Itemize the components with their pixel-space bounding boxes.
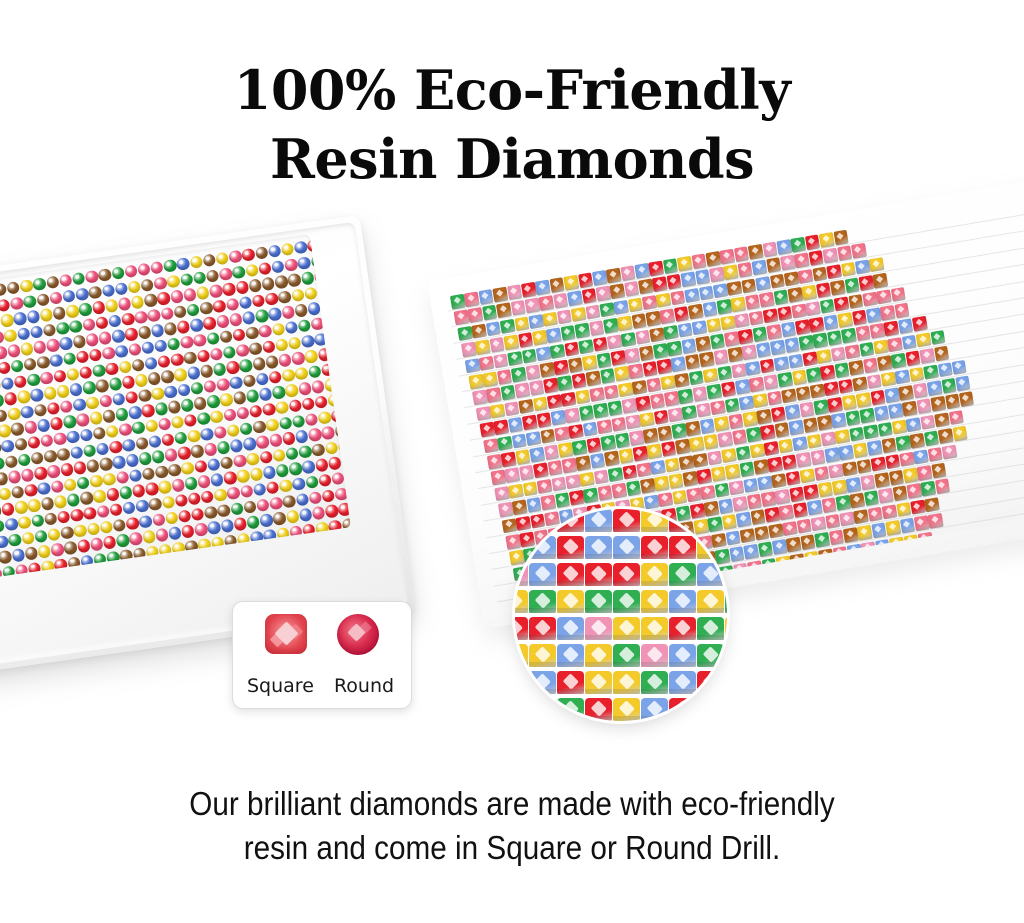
round-drill-bead [33,403,47,417]
round-gem-icon [337,614,379,655]
round-drill-bead [6,281,20,295]
round-drill-bead [265,292,279,306]
square-drill-bead [526,431,542,447]
round-drill-bead [230,439,244,453]
square-drill-bead [653,409,669,425]
square-drill-bead [747,494,763,510]
round-drill-bead [219,267,233,281]
square-drill-bead [927,380,943,396]
square-drill-bead [764,507,780,523]
round-drill-bead [278,416,292,430]
square-drill-bead [912,316,928,332]
round-drill-bead [165,511,179,525]
square-drill-bead [891,353,907,369]
square-drill-bead [703,368,719,384]
round-drill-bead [89,474,103,488]
round-drill-bead [145,482,159,496]
round-drill-bead [318,474,332,488]
round-drill-bead [49,354,63,368]
square-drill-bead [749,310,765,326]
round-drill-bead [89,411,103,425]
closeup-square-drill [697,671,724,696]
round-drill-bead [36,293,50,307]
closeup-square-drill [529,509,556,534]
round-drill-bead [268,307,282,321]
round-drill-bead [151,387,165,401]
round-drill-bead [249,342,263,356]
square-drill-bead [486,387,502,403]
round-drill-bead [213,362,227,376]
round-drill-bead [27,373,41,387]
round-drill-bead [308,365,322,379]
square-drill-bead [824,381,840,397]
round-drill-bead [229,313,243,327]
round-drill-bead [193,271,207,285]
round-drill-bead [96,505,110,519]
round-drill-bead [17,453,31,467]
round-drill-bead [200,490,214,504]
square-drill-bead [808,250,824,266]
square-drill-bead [650,393,666,409]
round-drill-bead [233,517,247,531]
round-drill-bead [56,447,70,461]
closeup-square-drill [557,590,584,615]
round-drill-bead [102,409,116,423]
round-drill-bead [147,309,161,323]
round-drill-bead [298,382,312,396]
square-drill-bead [589,320,605,336]
round-drill-bead [278,290,292,304]
closeup-square-drill [585,671,612,696]
round-drill-bead [24,546,38,560]
round-drill-bead [258,261,272,275]
round-drill-bead [0,472,9,486]
square-drill-bead [749,377,765,393]
square-drill-bead [952,426,968,442]
round-drill-bead [37,419,51,433]
round-drill-bead [236,406,250,420]
round-drill-bead [80,491,94,505]
square-drill-bead [563,275,579,291]
round-drill-bead [214,488,228,502]
round-drill-bead [47,464,61,478]
round-drill-bead [145,419,159,433]
square-drill-bead [839,511,855,527]
round-drill-bead [202,254,216,268]
round-drill-bead [256,435,270,449]
square-drill-bead [682,405,698,421]
square-drill-bead [759,292,775,308]
square-drill-bead [496,303,512,319]
square-drill-bead [610,284,626,300]
square-drill-bead [461,342,477,358]
round-drill-bead [127,280,141,294]
square-drill-bead [853,443,869,459]
square-drill-bead [657,425,673,441]
square-drill-bead [681,338,697,354]
round-drill-bead [271,323,285,337]
round-drill-bead [122,501,136,515]
round-drill-bead [37,482,51,496]
round-drill-bead [273,511,287,525]
round-drill-bead [0,361,11,375]
square-drill-bead [699,352,715,368]
round-drill-bead [187,366,201,380]
closeup-square-drill [515,563,528,588]
square-drill-bead [803,484,819,500]
round-drill-bead [53,432,67,446]
square-drill-bead [763,308,779,324]
square-drill-bead [652,277,668,293]
square-drill-bead [910,499,926,515]
square-drill-bead [857,525,873,541]
round-drill-bead [157,291,171,305]
square-drill-bead [508,417,524,433]
closeup-square-drill [529,617,556,642]
square-drill-bead [894,303,910,319]
square-drill-bead [610,350,626,366]
square-drill-bead [850,493,866,509]
square-drill-bead [870,390,886,406]
square-drill-bead [550,410,566,426]
square-drill-bead [549,277,565,293]
closeup-square-drill [725,509,727,534]
round-drill-bead [26,310,40,324]
square-drill-bead [468,307,484,323]
round-drill-bead [13,312,27,326]
round-drill-bead [135,436,149,450]
round-drill-bead [102,472,116,486]
round-drill-bead [153,276,167,290]
square-drill-bead [771,473,787,489]
round-drill-bead [69,320,83,334]
round-drill-bead [119,486,133,500]
square-drill-bead [650,460,666,476]
round-drill-bead [63,478,77,492]
closeup-square-drill [515,536,528,561]
round-drill-bead [144,356,158,370]
square-drill-bead [487,454,503,470]
round-drill-bead [281,305,295,319]
square-drill-bead [505,468,521,484]
square-drill-bead [919,348,935,364]
square-drill-bead [547,394,563,410]
square-drill-bead [692,320,708,336]
round-drill-bead [14,438,28,452]
square-drill-bead [565,474,581,490]
square-drill-bead [692,386,708,402]
square-drill-bead [797,518,813,534]
round-drill-bead [72,335,86,349]
round-drill-bead [163,259,177,273]
round-drill-bead [17,327,31,341]
square-drill-bead [831,413,847,429]
round-drill-bead [295,430,309,444]
round-drill-bead [0,409,8,423]
square-drill-bead [575,323,591,339]
square-drill-bead [778,438,794,454]
square-drill-bead [766,258,782,274]
square-drill-bead [678,322,694,338]
square-drill-bead [519,465,535,481]
closeup-square-drill [515,590,528,615]
square-drill-bead [851,243,867,259]
square-drill-bead [802,351,818,367]
closeup-square-drill [529,590,556,615]
round-drill-bead [85,333,99,347]
round-drill-bead [85,270,99,284]
closeup-square-drill [697,536,724,561]
round-drill-bead [142,530,156,544]
square-drill-bead [486,321,502,337]
square-drill-bead [863,424,879,440]
square-drill-bead [739,395,755,411]
round-drill-bead [150,324,164,338]
square-drill-bead [827,397,843,413]
square-drill-bead [866,307,882,323]
round-drill-bead [52,306,66,320]
legend-icons [233,614,411,655]
round-drill-bead [243,437,257,451]
square-drill-bead [497,369,513,385]
round-drill-bead [212,299,226,313]
round-drill-bead [47,527,61,541]
square-drill-bead [639,412,655,428]
square-drill-bead [618,382,634,398]
round-drill-bead [56,384,70,398]
round-drill-bead [148,497,162,511]
round-drill-bead [275,464,289,478]
square-drill-bead [647,444,663,460]
round-drill-bead [46,276,60,290]
round-drill-bead [207,521,221,535]
square-drill-bead [682,471,698,487]
round-drill-bead [154,339,168,353]
round-drill-bead [197,412,211,426]
square-drill-bead [800,468,816,484]
round-drill-bead [33,340,47,354]
round-drill-bead [30,388,44,402]
round-drill-bead [199,301,213,315]
square-drill-bead [475,339,491,355]
round-drill-bead [245,326,259,340]
round-drill-bead [150,261,164,275]
closeup-square-drill [641,671,668,696]
square-drill-bead [611,483,627,499]
round-drill-bead [148,434,162,448]
round-drill-bead [151,450,165,464]
round-drill-bead [92,427,106,441]
closeup-square-drill [529,644,556,669]
closeup-square-drill [725,671,727,696]
square-drill-bead [945,394,961,410]
square-drill-bead [757,475,773,491]
square-drill-bead [625,414,641,430]
square-drill-bead [779,505,795,521]
round-drill-bead [14,500,28,514]
square-drill-bead [621,332,637,348]
round-drill-bead [108,314,122,328]
square-drill-bead [649,261,665,277]
square-drill-bead [856,392,872,408]
round-drill-bead [265,418,279,432]
round-drill-bead [289,462,303,476]
square-drill-bead [892,486,908,502]
round-drill-bead [258,324,272,338]
round-drill-bead [154,402,168,416]
round-drill-bead [256,498,270,512]
round-drill-bead [170,290,184,304]
square-drill-bead [721,381,737,397]
square-drill-bead [838,378,854,394]
square-drill-bead [796,452,812,468]
round-drill-bead [115,408,129,422]
round-drill-bead [128,469,142,483]
round-drill-bead [77,539,91,553]
square-drill-bead [743,544,759,560]
square-drill-bead [927,447,943,463]
round-drill-bead [262,466,276,480]
round-drill-bead [67,493,81,507]
square-drill-bead [557,376,573,392]
square-drill-bead [685,354,701,370]
square-drill-bead [592,270,608,286]
square-drill-bead [830,280,846,296]
round-drill-bead [21,531,35,545]
round-drill-bead [11,422,25,436]
round-drill-bead [288,399,302,413]
square-drill-bead [785,404,801,420]
round-drill-bead [272,448,286,462]
round-drill-bead [291,351,305,365]
round-drill-bead [73,398,87,412]
square-drill-bead [522,415,538,431]
round-drill-bead [268,244,282,258]
square-drill-bead [774,356,790,372]
square-drill-bead [713,349,729,365]
square-drill-bead [800,534,816,550]
round-drill-bead [180,335,194,349]
round-drill-bead [134,373,148,387]
round-drill-bead [233,454,247,468]
round-drill-bead [21,468,35,482]
square-drill-bead [899,451,915,467]
round-drill-bead [294,304,308,318]
square-drill-bead [490,403,506,419]
square-drill-bead [711,466,727,482]
round-drill-bead [7,407,21,421]
square-drill-bead [582,421,598,437]
round-drill-bead [304,349,318,363]
square-drill-bead [491,470,507,486]
round-drill-bead [297,319,311,333]
square-drill-bead [767,390,783,406]
square-drill-bead [895,369,911,385]
round-drill-bead [301,397,315,411]
square-drill-bead [514,316,530,332]
closeup-square-drill [585,563,612,588]
round-drill-bead [99,520,113,534]
round-drill-bead [78,302,92,316]
closeup-square-drill [641,509,668,534]
closeup-square-drill [669,563,696,588]
square-drill-bead [916,332,932,348]
square-drill-bead [504,335,520,351]
round-drill-bead [0,535,9,549]
square-drill-bead [579,405,595,421]
square-drill-bead [686,487,702,503]
square-drill-bead [889,470,905,486]
round-drill-bead [105,362,119,376]
round-drill-bead [128,343,142,357]
closeup-square-drill [515,698,528,721]
round-drill-bead [219,330,233,344]
round-drill-bead [73,461,87,475]
round-drill-bead [278,353,292,367]
square-drill-bead [743,478,759,494]
square-drill-bead [543,378,559,394]
square-drill-bead [724,397,740,413]
square-drill-closeup [515,509,727,721]
closeup-square-drill [697,698,724,721]
square-drill-bead [792,436,808,452]
square-drill-bead [665,457,681,473]
square-drill-bead [540,428,556,444]
square-drill-bead [791,303,807,319]
round-drill-bead [176,257,190,271]
round-drill-bead [60,526,74,540]
round-drill-bead [222,345,236,359]
closeup-square-drill [697,590,724,615]
square-drill-bead [578,339,594,355]
round-drill-bead [37,544,51,558]
round-drill-bead [223,408,237,422]
round-drill-bead [0,424,12,438]
round-drill-bead [286,510,300,524]
square-drill-bead [832,479,848,495]
round-drill-bead [19,279,33,293]
square-drill-bead [620,265,636,281]
closeup-square-drill [515,617,528,642]
round-drill-bead [230,502,244,516]
round-drill-bead [137,263,151,277]
round-drill-bead [118,423,132,437]
round-drill-bead [82,318,96,332]
round-drill-bead [239,359,253,373]
round-drill-bead [31,514,45,528]
closeup-square-drill [697,563,724,588]
square-drill-bead [731,363,747,379]
square-drill-bead [760,425,776,441]
round-drill-bead [140,278,154,292]
closeup-square-drill [515,671,528,696]
round-drill-bead [266,481,280,495]
round-drill-bead [217,504,231,518]
round-drill-bead [227,486,241,500]
round-drill-bead [124,265,138,279]
round-drill-bead [271,260,285,274]
closeup-square-drill [725,590,727,615]
round-drill-bead [65,304,79,318]
square-drill-bead [910,433,926,449]
round-drill-bead [20,405,34,419]
square-drill-bead [454,310,470,326]
square-drill-bead [880,305,896,321]
square-drill-bead [834,362,850,378]
tray-groove [451,230,1024,328]
square-drill-bead [507,351,523,367]
square-drill-bead [478,289,494,305]
